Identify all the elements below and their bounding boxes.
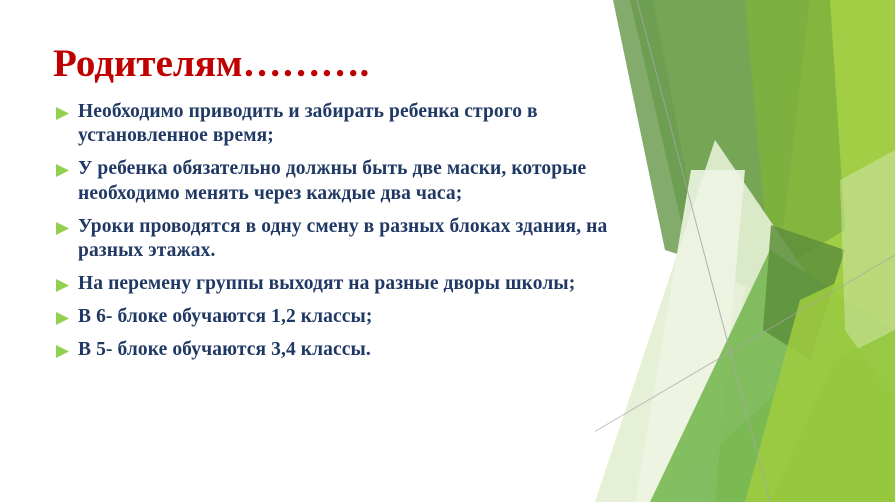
triangle-right-icon xyxy=(55,215,78,236)
list-item-label: Уроки проводятся в одну смену в разных б… xyxy=(78,215,653,263)
list-item-label: Необходимо приводить и забирать ребенка … xyxy=(78,100,655,148)
decor-shape-lime-overlay xyxy=(745,255,895,502)
decor-shape-deep-accent xyxy=(763,225,845,360)
decor-shape-light-right xyxy=(840,150,895,400)
triangle-right-icon xyxy=(55,272,78,293)
decor-shape-bottom-diagonal xyxy=(650,250,895,502)
triangle-right-icon xyxy=(55,338,78,359)
list-item: На перемену группы выходят на разные дво… xyxy=(55,272,655,296)
triangle-right-icon xyxy=(55,305,78,326)
slide-title: Родителям………. xyxy=(53,44,369,85)
list-item-label: На перемену группы выходят на разные дво… xyxy=(78,272,653,296)
decor-shape-mid-band xyxy=(745,0,845,275)
list-item-label: В 5- блоке обучаются 3,4 классы. xyxy=(78,338,655,362)
decor-shape-dark-wedge xyxy=(630,0,810,300)
slide-canvas: Родителям………. Необходимо приводить и заб… xyxy=(0,0,895,502)
list-item: В 5- блоке обучаются 3,4 классы. xyxy=(55,338,655,362)
triangle-right-icon xyxy=(55,100,78,121)
decor-line-diagonal-1 xyxy=(637,0,770,502)
list-item: Необходимо приводить и забирать ребенка … xyxy=(55,100,655,148)
triangle-right-icon xyxy=(55,157,78,178)
list-item: Уроки проводятся в одну смену в разных б… xyxy=(55,215,655,263)
decor-shape-corner-bright xyxy=(770,330,895,502)
decor-shape-lime-base xyxy=(705,0,895,502)
list-item: У ребенка обязательно должны быть две ма… xyxy=(55,157,655,205)
bullet-list: Необходимо приводить и забирать ребенка … xyxy=(55,100,655,372)
list-item-label: У ребенка обязательно должны быть две ма… xyxy=(78,157,655,205)
list-item: В 6- блоке обучаются 1,2 классы; xyxy=(55,305,655,329)
list-item-label: В 6- блоке обучаются 1,2 классы; xyxy=(78,305,655,329)
